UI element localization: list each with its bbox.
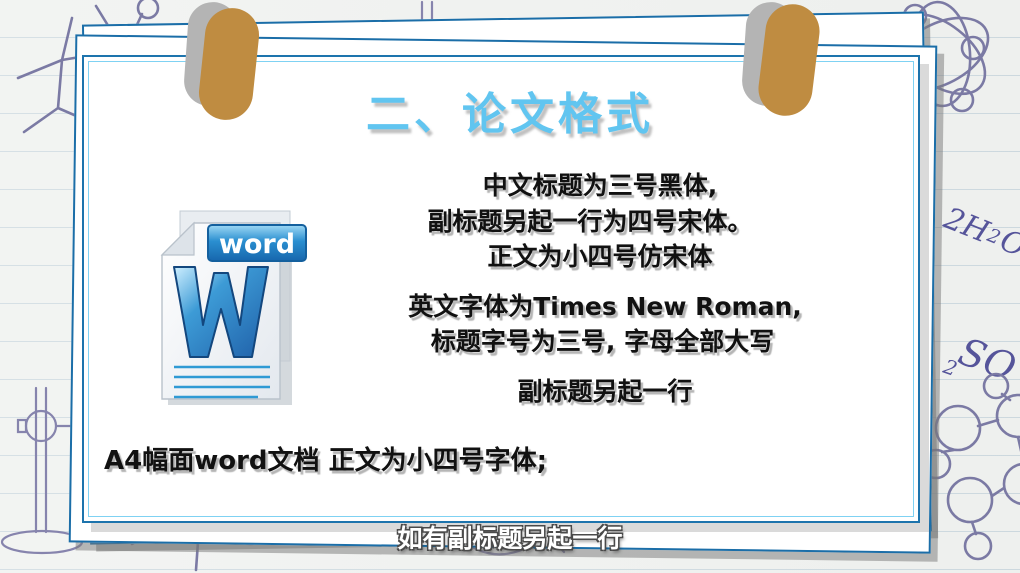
- body-line-2: 副标题另起一行为四号宋体。: [0, 204, 1020, 240]
- body-bottom-line: A4幅面word文档 正文为小四号字体;: [104, 440, 547, 477]
- slide-caption: 如有副标题另起一行: [0, 519, 1020, 555]
- slide-canvas: 2H 2 O 2 SO 4: [0, 0, 1020, 573]
- text-group-1: 中文标题为三号黑体, 副标题另起一行为四号宋体。 正文为小四号仿宋体: [0, 168, 1020, 275]
- body-line-5: 标题字号为三号, 字母全部大写: [0, 324, 1020, 360]
- body-line-4: 英文字体为Times New Roman,: [0, 289, 1020, 325]
- text-group-2: 英文字体为Times New Roman, 标题字号为三号, 字母全部大写: [0, 289, 1020, 360]
- body-line-3: 正文为小四号仿宋体: [0, 239, 1020, 275]
- body-line-6: 副标题另起一行: [0, 374, 1020, 410]
- body-text-block: 中文标题为三号黑体, 副标题另起一行为四号宋体。 正文为小四号仿宋体 英文字体为…: [0, 168, 1020, 423]
- text-group-3: 副标题另起一行: [0, 374, 1020, 410]
- body-line-1: 中文标题为三号黑体,: [0, 168, 1020, 204]
- slide-title: 二、论文格式: [0, 78, 1020, 142]
